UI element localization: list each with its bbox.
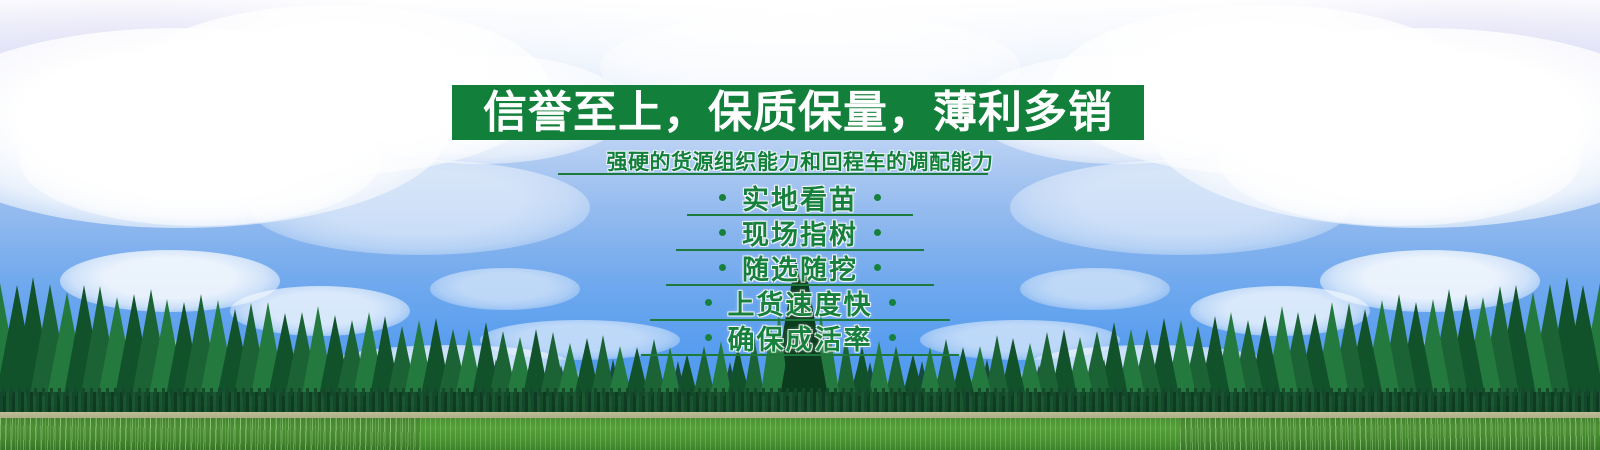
bullet-dot-icon [874,229,881,236]
feature-label: 随选随挖 [742,248,858,287]
bullet-dot-icon [874,194,881,201]
bullet-dot-icon [719,264,726,271]
field-furrows-right [1180,418,1600,450]
headline-text: 信誉至上，保质保量，薄利多销 [452,85,1144,140]
field-furrows-left [0,418,420,450]
feature-underline [641,354,959,356]
bullet-dot-icon [889,334,896,341]
feature-row: 现场指树 [0,215,1600,250]
bullet-dot-icon [719,229,726,236]
feature-row: 实地看苗 [0,180,1600,215]
feature-label: 上货速度快 [728,283,873,322]
subtitle-text: 强硬的货源组织能力和回程车的调配能力 [0,146,1600,176]
bullet-dot-icon [889,299,896,306]
feature-label: 实地看苗 [742,178,858,217]
bullet-dot-icon [705,299,712,306]
bullet-dot-icon [874,264,881,271]
crop-field [0,418,1600,450]
feature-row: 确保成活率 [0,320,1600,355]
bullet-dot-icon [719,194,726,201]
feature-label: 确保成活率 [728,318,873,357]
feature-label: 现场指树 [742,213,858,252]
feature-row: 随选随挖 [0,250,1600,285]
subtitle-underline [558,173,988,175]
far-treeline [0,392,1600,414]
bullet-dot-icon [705,334,712,341]
promotional-banner: 信誉至上，保质保量，薄利多销 强硬的货源组织能力和回程车的调配能力 实地看苗现场… [0,0,1600,450]
feature-list: 实地看苗现场指树随选随挖上货速度快确保成活率 [0,180,1600,355]
feature-row: 上货速度快 [0,285,1600,320]
